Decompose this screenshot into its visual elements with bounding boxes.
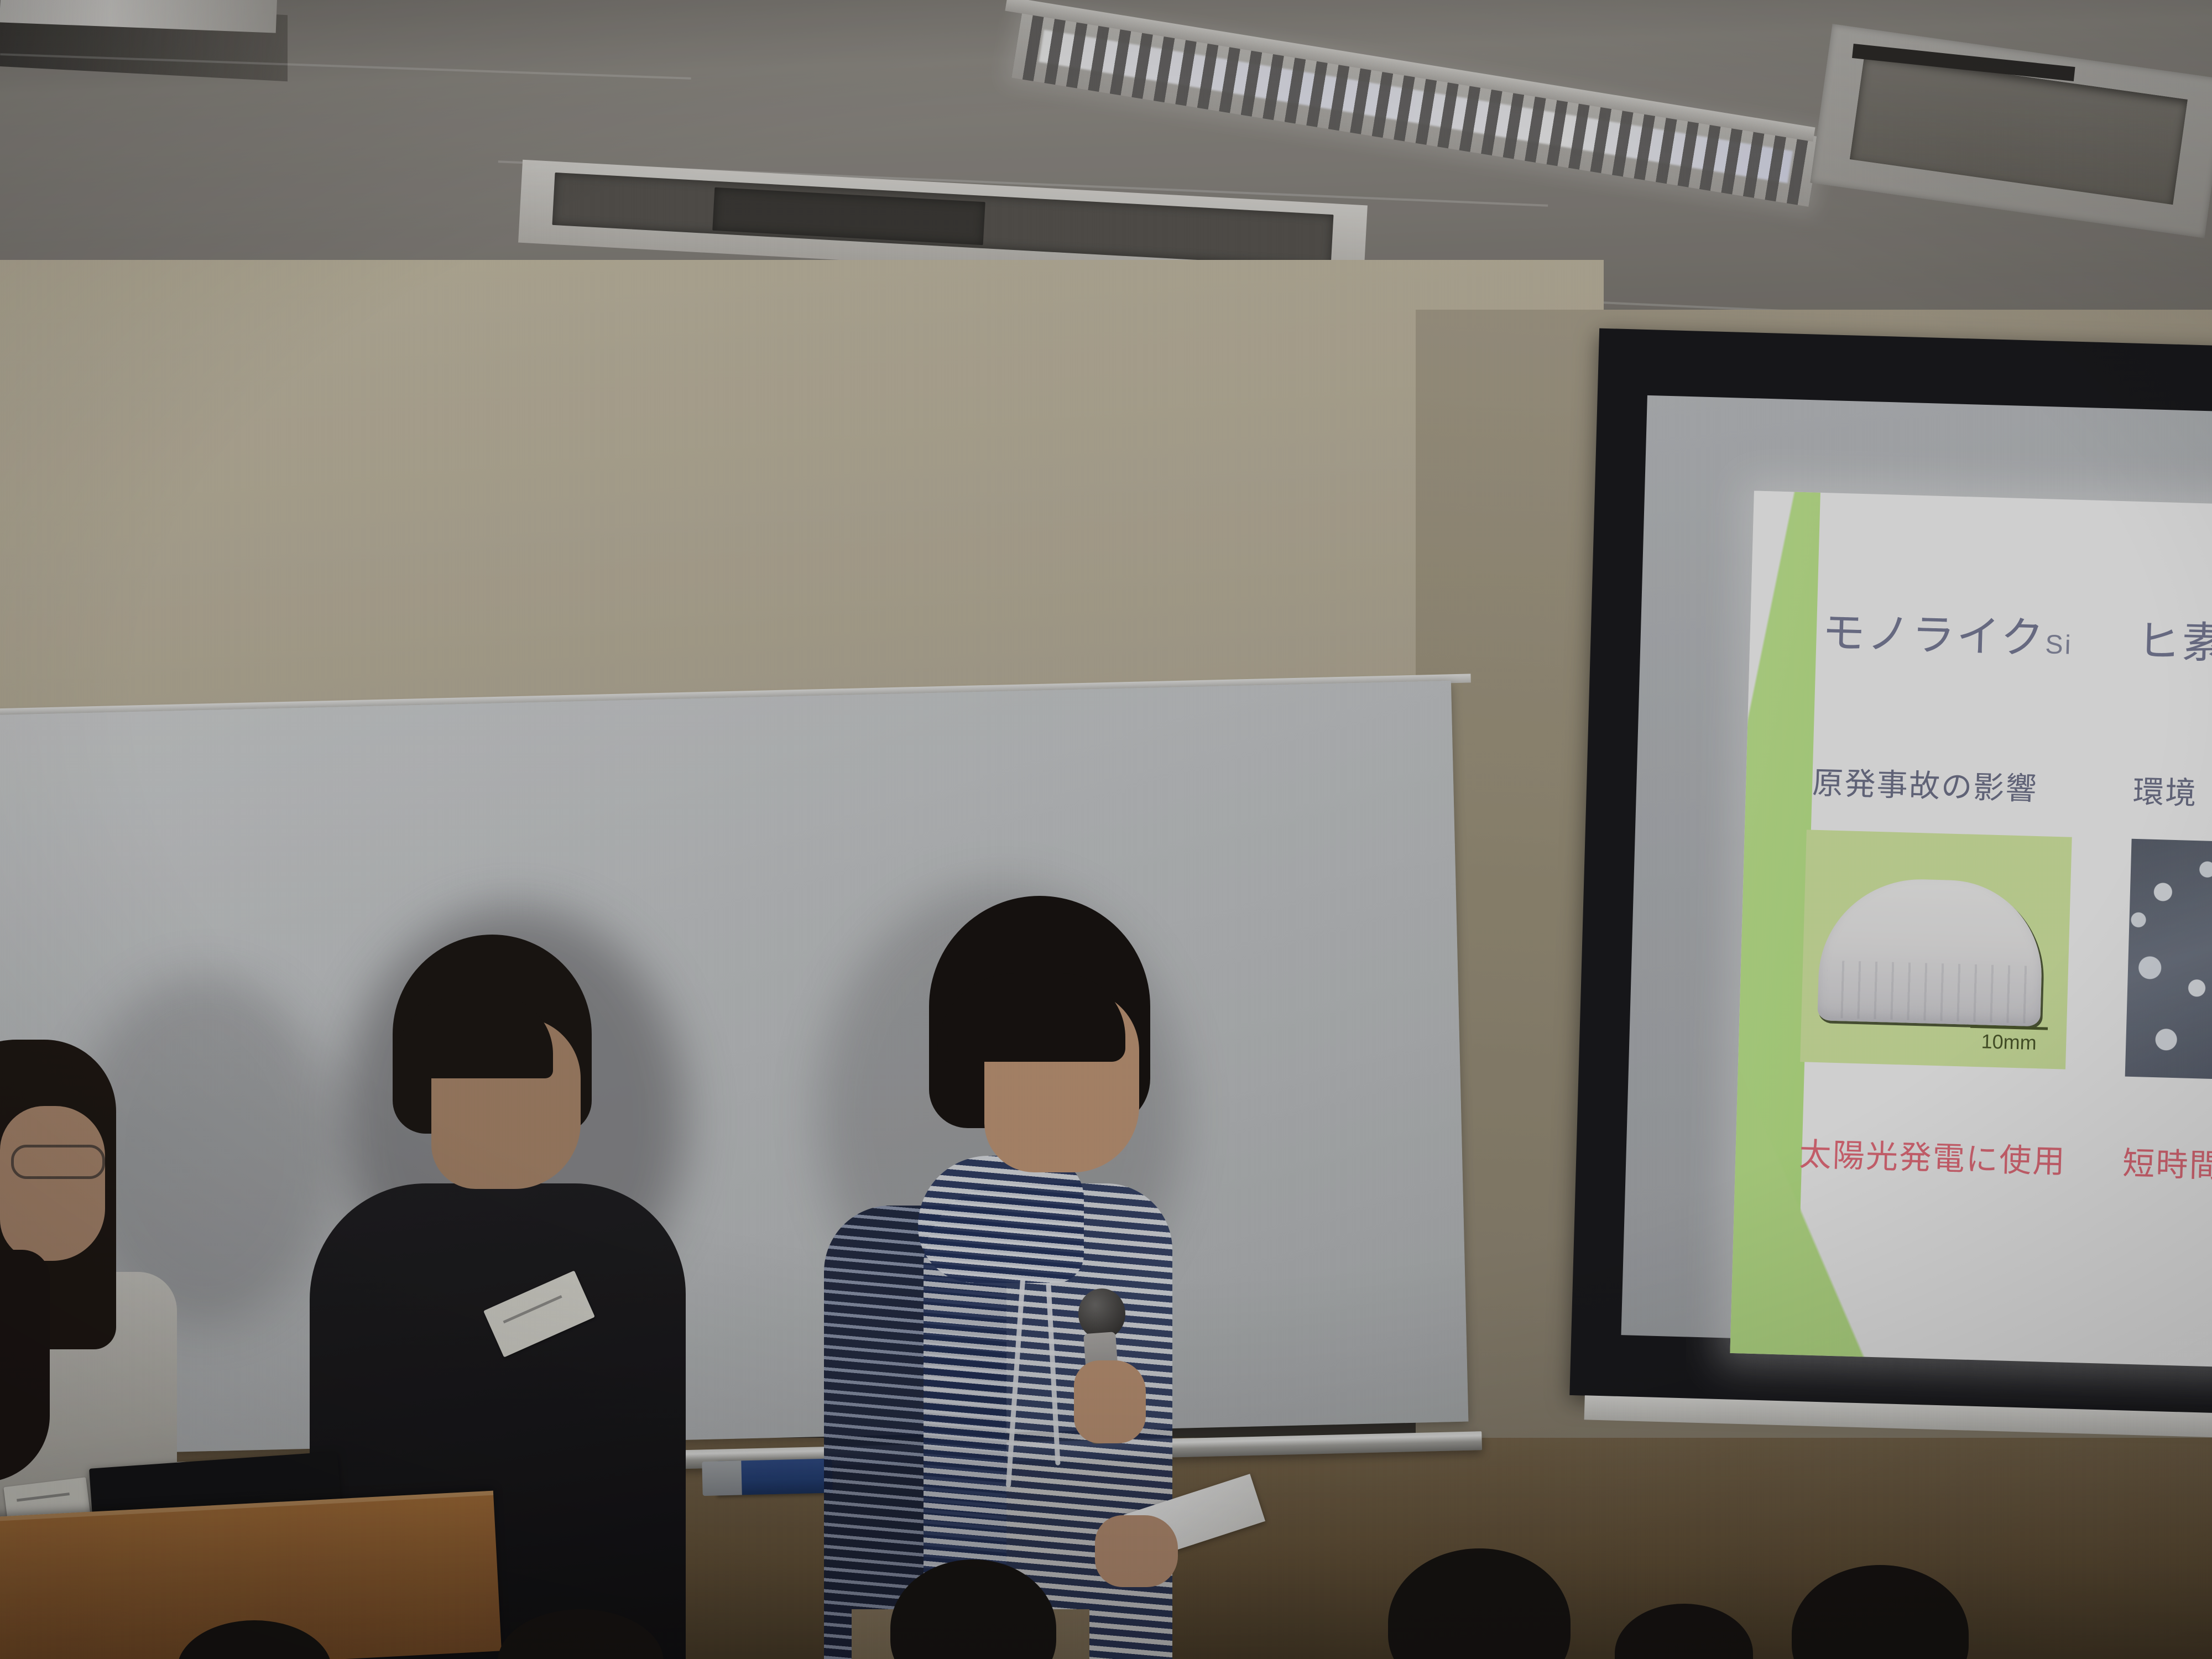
- microphone-head[interactable]: [1078, 1288, 1125, 1339]
- slide-left-subtitle: 原発事故の影響: [1812, 758, 2038, 809]
- whiteboard-eraser[interactable]: [716, 1459, 832, 1496]
- diffuser-inner: [1850, 54, 2188, 205]
- slide-right-subtitle: 環境: [2132, 767, 2198, 813]
- projected-slide: モノライクSi 原発事故の影響 10mm 太陽光発電に使用 ヒ素 環境 短時間: [1730, 491, 2212, 1367]
- slide-left-title: モノライクSi: [1821, 598, 2073, 667]
- slide-accent-wedge: [1730, 1044, 1882, 1357]
- scale-bar-label: 10mm: [1981, 1030, 2037, 1054]
- slide-right-caption: 短時間: [2122, 1138, 2212, 1187]
- silicon-ingot: [1817, 877, 2044, 1027]
- slide-right-title: ヒ素: [2136, 607, 2212, 671]
- scale-bar-line: [1970, 1025, 2048, 1030]
- third-person-face: [0, 1106, 105, 1261]
- presenter-hood: [918, 1156, 1084, 1283]
- scale-bar-10mm: 10mm: [1970, 1025, 2048, 1055]
- sem-micrograph: [2125, 839, 2212, 1082]
- eyeglasses: [11, 1145, 105, 1179]
- slide-left-caption: 太陽光発電に使用: [1798, 1128, 2067, 1182]
- photo-scene: モノライクSi 原発事故の影響 10mm 太陽光発電に使用 ヒ素 環境 短時間: [0, 0, 2212, 1659]
- silicon-ingot-photo: 10mm: [1800, 830, 2072, 1069]
- presenter-hand-paper: [1095, 1515, 1178, 1587]
- presenter-hand-mic: [1074, 1360, 1146, 1443]
- presenter-with-microphone: [818, 896, 1294, 1659]
- eraser-felt: [702, 1460, 742, 1496]
- slide-left-title-suffix: Si: [2045, 629, 2073, 660]
